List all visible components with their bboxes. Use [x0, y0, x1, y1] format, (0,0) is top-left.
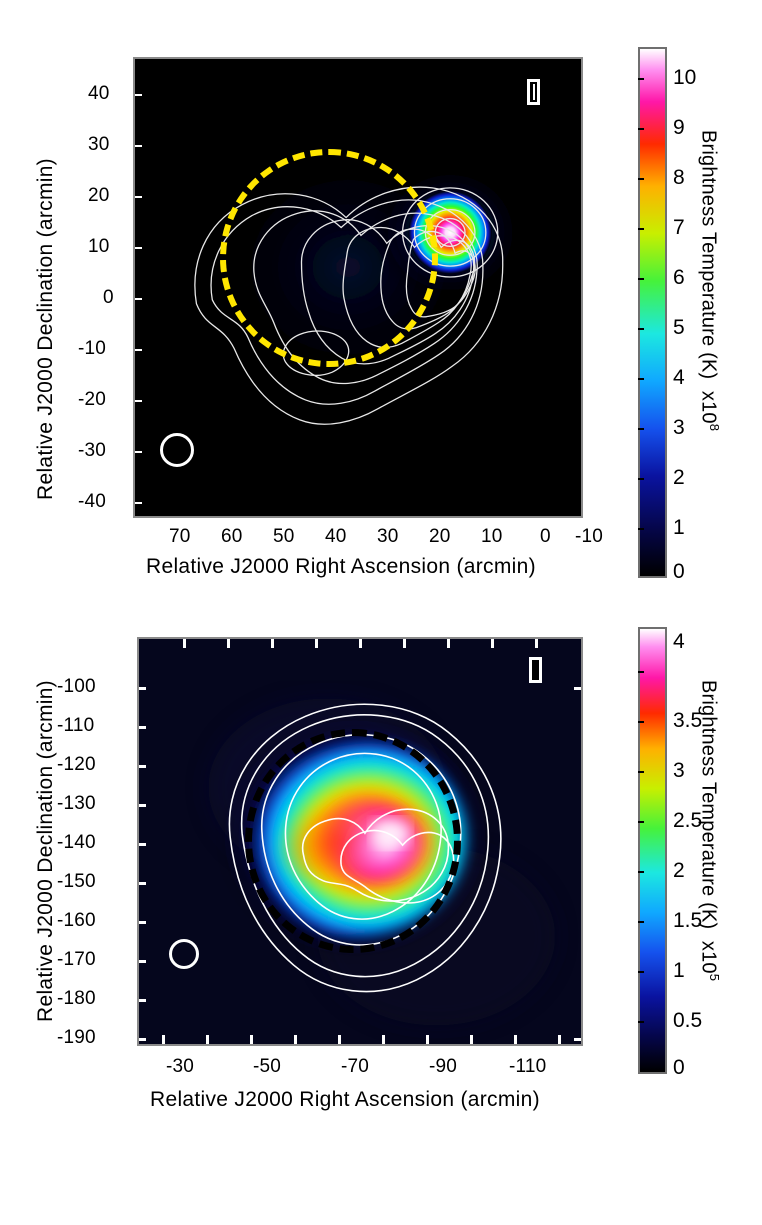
bottom-axis-tick: [206, 1035, 209, 1044]
bottom-colorbar-title-label: Brightness Temperature (K): [697, 680, 719, 929]
bottom-beam-ellipse: [169, 939, 199, 969]
top-axis-tick: [135, 196, 142, 198]
top-colorbar-tick: [638, 178, 644, 180]
top-x-axis-title: Relative J2000 Right Ascension (arcmin): [146, 555, 536, 579]
bottom-ytick-label: -190: [57, 1027, 96, 1049]
top-ytick-label: -10: [78, 338, 106, 360]
top-xtick-label: -10: [575, 526, 603, 548]
bottom-axis-tick: [426, 1035, 429, 1044]
bottom-axis-tick: [183, 639, 186, 648]
bottom-axis-tick: [315, 639, 318, 648]
bottom-ytick-label: -110: [57, 715, 94, 737]
bottom-colorbar-tick: [638, 671, 644, 673]
top-colorbar-tick-label: 8: [673, 166, 685, 190]
bottom-colorbar-multiplier: x10: [697, 941, 719, 974]
top-colorbar-tick-label: 7: [673, 216, 685, 240]
top-xtick-label: 60: [221, 526, 243, 548]
top-panel-map[interactable]: [133, 57, 583, 518]
bottom-axis-tick: [382, 1035, 385, 1044]
top-axis-tick: [135, 502, 142, 504]
top-colorbar-tick-label: 1: [673, 516, 685, 540]
top-colorbar-tick: [638, 278, 644, 280]
top-xtick-label: 30: [377, 526, 399, 548]
bottom-axis-tick: [535, 639, 538, 648]
top-colorbar-title-label: Brightness Temperature (K): [697, 130, 719, 379]
bottom-axis-tick: [470, 1035, 473, 1044]
bottom-ytick-label: -130: [57, 793, 96, 815]
top-ytick-label: 10: [88, 236, 110, 258]
bottom-axis-tick: [514, 1035, 517, 1044]
bottom-ytick-label: -140: [57, 832, 96, 854]
top-ytick-label: 20: [88, 185, 110, 207]
bottom-xtick-label: -110: [509, 1056, 546, 1078]
bottom-ytick-label: -170: [57, 949, 96, 971]
bottom-y-axis-title: Relative J2000 Declination (arcmin): [34, 680, 58, 1022]
bottom-xtick-label: -50: [253, 1056, 281, 1078]
top-colorbar-tick-label: 6: [673, 266, 685, 290]
bottom-axis-tick: [294, 1035, 297, 1044]
bottom-xtick-label: -90: [429, 1056, 457, 1078]
bottom-colorbar-title: Brightness Temperature (K) x105: [696, 680, 722, 981]
bottom-colorbar-tick: [638, 871, 644, 873]
bottom-colorbar-tick: [638, 721, 644, 723]
bottom-xtick-label: -70: [341, 1056, 369, 1078]
top-colorbar-tick: [638, 378, 644, 380]
top-y-axis-title: Relative J2000 Declination (arcmin): [34, 158, 58, 500]
bottom-axis-tick: [139, 687, 146, 690]
top-axis-tick: [135, 247, 142, 249]
bottom-axis-tick: [447, 639, 450, 648]
bottom-axis-tick: [403, 639, 406, 648]
top-xtick-label: 20: [429, 526, 451, 548]
top-ytick-label: 0: [103, 287, 114, 309]
top-ytick-label: -30: [78, 440, 106, 462]
bottom-colorbar-tick-label: 4: [673, 630, 685, 654]
bottom-colorbar-tick: [638, 1021, 644, 1023]
top-colorbar-tick: [638, 228, 644, 230]
bottom-colorbar-tick: [638, 971, 644, 973]
bottom-ytick-label: -100: [57, 676, 96, 698]
bottom-colorbar-tick-label: 1: [673, 959, 685, 983]
bottom-axis-tick: [359, 639, 362, 648]
top-beam-ellipse: [160, 433, 194, 467]
bottom-axis-tick: [558, 1035, 561, 1044]
bottom-dashed-aperture-circle: [245, 729, 461, 953]
bottom-axis-tick: [139, 843, 146, 846]
top-xtick-label: 70: [169, 526, 191, 548]
bottom-axis-tick: [227, 639, 230, 648]
bottom-axis-tick: [139, 765, 146, 768]
top-colorbar-tick: [638, 328, 644, 330]
bottom-ytick-label: -180: [57, 988, 96, 1010]
bottom-colorbar-tick: [638, 921, 644, 923]
top-colorbar-tick-label: 3: [673, 416, 685, 440]
top-axis-tick: [135, 94, 142, 96]
bottom-axis-tick: [139, 882, 146, 885]
bottom-axis-tick: [139, 804, 146, 807]
bottom-axis-tick: [338, 1035, 341, 1044]
bottom-ytick-label: -120: [57, 754, 96, 776]
bottom-axis-tick: [162, 1035, 165, 1044]
top-colorbar-title: Brightness Temperature (K) x108: [696, 130, 722, 431]
top-colorbar-tick: [638, 428, 644, 430]
top-colorbar-tick-label: 10: [673, 66, 696, 90]
top-axis-tick: [135, 451, 142, 453]
top-ytick-label: 30: [88, 134, 110, 156]
bottom-axis-tick: [250, 1035, 253, 1044]
bottom-axis-tick: [139, 1038, 146, 1041]
bottom-colorbar-tick-label: 2: [673, 859, 685, 883]
bottom-axis-tick: [139, 726, 146, 729]
top-colorbar[interactable]: [638, 47, 667, 578]
bottom-colorbar-tick-label: 3: [673, 759, 685, 783]
top-axis-tick: [135, 400, 142, 402]
top-axis-tick: [135, 145, 142, 147]
top-colorbar-tick: [638, 128, 644, 130]
bottom-ytick-label: -150: [57, 871, 96, 893]
top-colorbar-tick-label: 9: [673, 116, 685, 140]
bottom-colorbar-tick-label: 0.5: [673, 1009, 702, 1033]
bottom-colorbar-tick-label: 0: [673, 1056, 685, 1080]
top-xtick-label: 50: [273, 526, 295, 548]
top-ytick-label: -20: [78, 389, 106, 411]
bottom-corner-scalebar-box: [529, 657, 542, 683]
bottom-colorbar-exponent: 5: [707, 974, 722, 981]
top-colorbar-tick-label: 4: [673, 366, 685, 390]
top-axis-tick: [135, 298, 142, 300]
top-axis-tick: [135, 349, 142, 351]
bottom-colorbar[interactable]: [638, 627, 667, 1074]
top-xtick-label: 40: [325, 526, 347, 548]
top-colorbar-tick: [638, 78, 644, 80]
top-dashed-aperture-circle: [220, 149, 438, 367]
bottom-panel-map[interactable]: [137, 637, 583, 1046]
bottom-colorbar-tick: [638, 821, 644, 823]
top-colorbar-tick: [638, 478, 644, 480]
bottom-axis-tick: [574, 1038, 581, 1041]
bottom-axis-tick: [491, 639, 494, 648]
top-ytick-label: 40: [88, 83, 110, 105]
top-ytick-label: -40: [78, 491, 106, 513]
top-colorbar-tick: [638, 528, 644, 530]
top-xtick-label: 0: [540, 526, 551, 548]
bottom-axis-tick: [139, 960, 146, 963]
bottom-axis-tick: [139, 921, 146, 924]
bottom-axis-tick: [139, 999, 146, 1002]
figure-root: Relative J2000 Declination (arcmin) 40 3…: [0, 0, 762, 1225]
top-colorbar-tick-label: 2: [673, 466, 685, 490]
top-colorbar-tick-label: 0: [673, 560, 685, 584]
top-colorbar-tick-label: 5: [673, 316, 685, 340]
bottom-axis-tick: [574, 687, 581, 690]
bottom-colorbar-tick: [638, 771, 644, 773]
top-colorbar-exponent: 8: [707, 424, 722, 431]
top-colorbar-multiplier: x10: [697, 391, 719, 424]
top-corner-scalebar-box: [527, 79, 540, 105]
bottom-axis-tick: [271, 639, 274, 648]
bottom-ytick-label: -160: [57, 910, 96, 932]
bottom-xtick-label: -30: [166, 1056, 194, 1078]
bottom-x-axis-title: Relative J2000 Right Ascension (arcmin): [150, 1088, 540, 1112]
top-xtick-label: 10: [481, 526, 503, 548]
